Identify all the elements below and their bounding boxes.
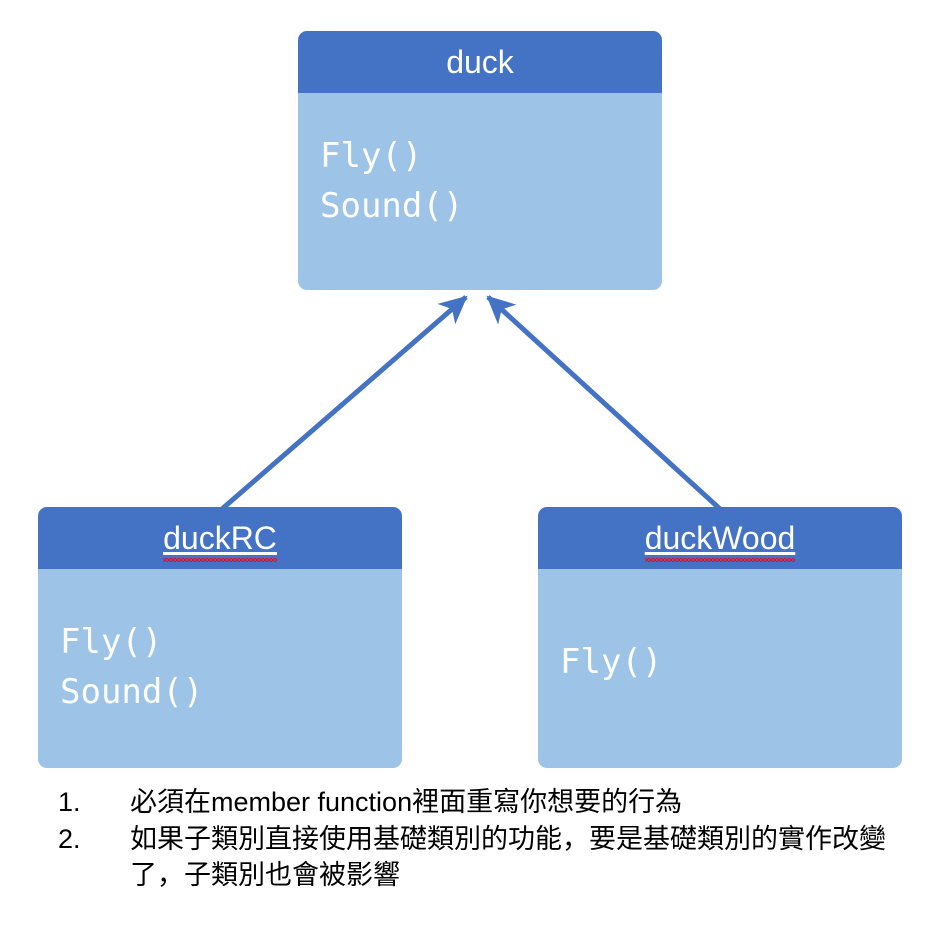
class-body-duck: Fly() Sound() — [298, 93, 662, 290]
class-methods-duckwood: Fly() — [560, 637, 662, 687]
note-item: 2. 如果子類別直接使用基礎類別的功能，要是基礎類別的實作改變了，子類別也會被影… — [48, 821, 918, 894]
class-box-duckwood[interactable]: duckWood Fly() — [538, 507, 902, 768]
note-number: 1. — [48, 784, 130, 821]
class-title-duck: duck — [446, 46, 514, 78]
class-header-duck: duck — [298, 31, 662, 93]
class-body-duckwood: Fly() — [538, 569, 902, 768]
connector-duckrc-to-duck — [222, 297, 466, 509]
diagram-canvas: duck Fly() Sound() duckRC Fly() Sound() … — [0, 0, 939, 940]
class-box-duckrc[interactable]: duckRC Fly() Sound() — [38, 507, 402, 768]
spellcheck-squiggle-icon — [163, 558, 277, 562]
class-header-duckrc: duckRC — [38, 507, 402, 569]
class-title-duckrc: duckRC — [163, 522, 277, 554]
class-methods-duck: Fly() Sound() — [320, 131, 463, 232]
note-item: 1. 必須在member function裡面重寫你想要的行為 — [48, 784, 918, 821]
class-body-duckrc: Fly() Sound() — [38, 569, 402, 768]
notes-list: 1. 必須在member function裡面重寫你想要的行為 2. 如果子類別… — [48, 784, 918, 894]
note-number: 2. — [48, 821, 130, 858]
class-box-duck[interactable]: duck Fly() Sound() — [298, 31, 662, 290]
spellcheck-squiggle-icon — [645, 558, 796, 562]
note-text: 如果子類別直接使用基礎類別的功能，要是基礎類別的實作改變了，子類別也會被影響 — [130, 821, 918, 894]
class-header-duckwood: duckWood — [538, 507, 902, 569]
connector-duckwood-to-duck — [488, 297, 720, 509]
class-title-duckwood: duckWood — [645, 522, 796, 554]
class-methods-duckrc: Fly() Sound() — [60, 617, 203, 718]
note-text: 必須在member function裡面重寫你想要的行為 — [130, 784, 918, 821]
